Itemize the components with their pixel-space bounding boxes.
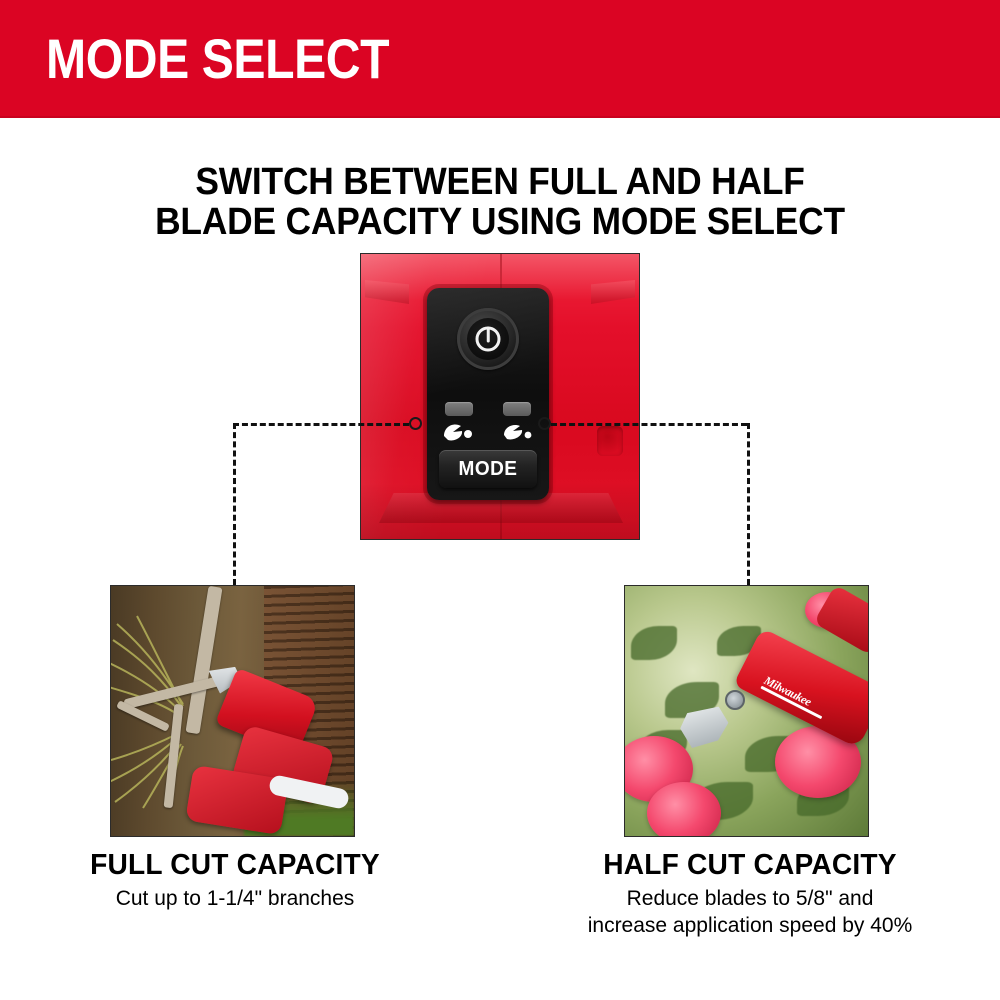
header-banner: MODE SELECT [0,0,1000,118]
mode-button[interactable]: MODE [439,450,537,488]
full-cut-caption: FULL CUT CAPACITY Cut up to 1-1/4" branc… [0,848,470,912]
half-cut-scene: Milwaukee [625,586,868,836]
tool-screw-boss [597,426,623,456]
callout-line-left-horizontal [233,423,409,426]
half-blade-icon [501,420,535,444]
control-panel: MODE [427,288,549,500]
tool-control-panel-photo: MODE [360,253,640,540]
power-icon [476,327,501,352]
page-title: MODE SELECT [46,27,389,91]
power-button[interactable] [457,308,519,370]
headline-line-2: BLADE CAPACITY USING MODE SELECT [35,202,965,242]
half-cut-caption-line-2: increase application speed by 40% [500,912,1000,939]
foliage-leaf [631,626,677,660]
full-mode-marker [409,417,422,430]
half-mode-marker [538,417,551,430]
half-cut-caption-line-1: Reduce blades to 5/8" and [500,885,1000,912]
headline-line-1: SWITCH BETWEEN FULL AND HALF [35,162,965,202]
tool-body: MODE [361,254,639,539]
mode-button-label: MODE [459,458,518,481]
power-icon-bar [486,327,490,343]
full-cut-photo [110,585,355,837]
full-cut-caption-line-1: Cut up to 1-1/4" branches [0,885,470,912]
callout-line-right-horizontal [551,423,747,426]
full-blade-icon [441,420,475,444]
rose-bloom [647,782,721,837]
power-button-face [467,318,509,360]
pruner-pivot [725,690,745,710]
half-capacity-led [503,402,531,416]
full-cut-scene [111,586,354,836]
half-cut-photo: Milwaukee [624,585,869,837]
callout-line-right-vertical [747,423,750,585]
full-cut-caption-title: FULL CUT CAPACITY [7,848,463,882]
headline: SWITCH BETWEEN FULL AND HALF BLADE CAPAC… [0,162,1000,242]
half-cut-caption-title: HALF CUT CAPACITY [508,848,993,882]
half-cut-caption: HALF CUT CAPACITY Reduce blades to 5/8" … [500,848,1000,939]
callout-line-left-vertical [233,423,236,585]
full-capacity-led [445,402,473,416]
